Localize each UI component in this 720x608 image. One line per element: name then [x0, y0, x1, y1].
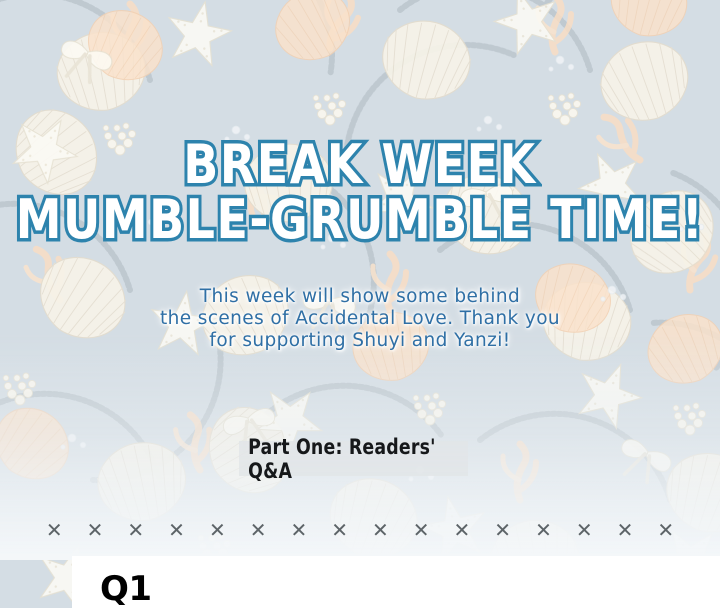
x-mark-icon: ✕	[413, 520, 430, 540]
x-mark-icon: ✕	[46, 520, 63, 540]
x-mark-icon: ✕	[617, 520, 634, 540]
x-mark-icon: ✕	[209, 520, 226, 540]
x-mark-icon: ✕	[454, 520, 471, 540]
x-mark-icon: ✕	[168, 520, 185, 540]
x-mark-icon: ✕	[87, 520, 104, 540]
x-mark-divider: ✕✕✕✕✕✕✕✕✕✕✕✕✕✕✕✕	[0, 516, 720, 544]
x-mark-icon: ✕	[290, 520, 307, 540]
x-mark-icon: ✕	[494, 520, 511, 540]
question-panel: Q1	[72, 556, 720, 608]
x-mark-icon: ✕	[657, 520, 674, 540]
intro-paragraph: This week will show some behind the scen…	[0, 286, 720, 352]
x-mark-icon: ✕	[535, 520, 552, 540]
x-mark-icon: ✕	[372, 520, 389, 540]
x-mark-icon: ✕	[331, 520, 348, 540]
intro-line-3: for supporting Shuyi and Yanzi!	[0, 330, 720, 352]
page-title: BREAK WEEK MUMBLE-GRUMBLE TIME!	[0, 138, 720, 237]
x-mark-icon: ✕	[250, 520, 267, 540]
section-label-band: Part One: Readers' Q&A	[239, 441, 468, 476]
x-mark-icon: ✕	[127, 520, 144, 540]
question-heading: Q1	[100, 572, 152, 606]
x-mark-icon: ✕	[576, 520, 593, 540]
comic-page: BREAK WEEK MUMBLE-GRUMBLE TIME! This wee…	[0, 0, 720, 608]
intro-line-2: the scenes of Accidental Love. Thank you	[0, 308, 720, 330]
section-label-text: Part One: Readers' Q&A	[248, 435, 459, 483]
intro-line-1: This week will show some behind	[0, 286, 720, 308]
title-line-1: BREAK WEEK	[0, 138, 720, 191]
title-line-2: MUMBLE-GRUMBLE TIME!	[0, 193, 720, 246]
